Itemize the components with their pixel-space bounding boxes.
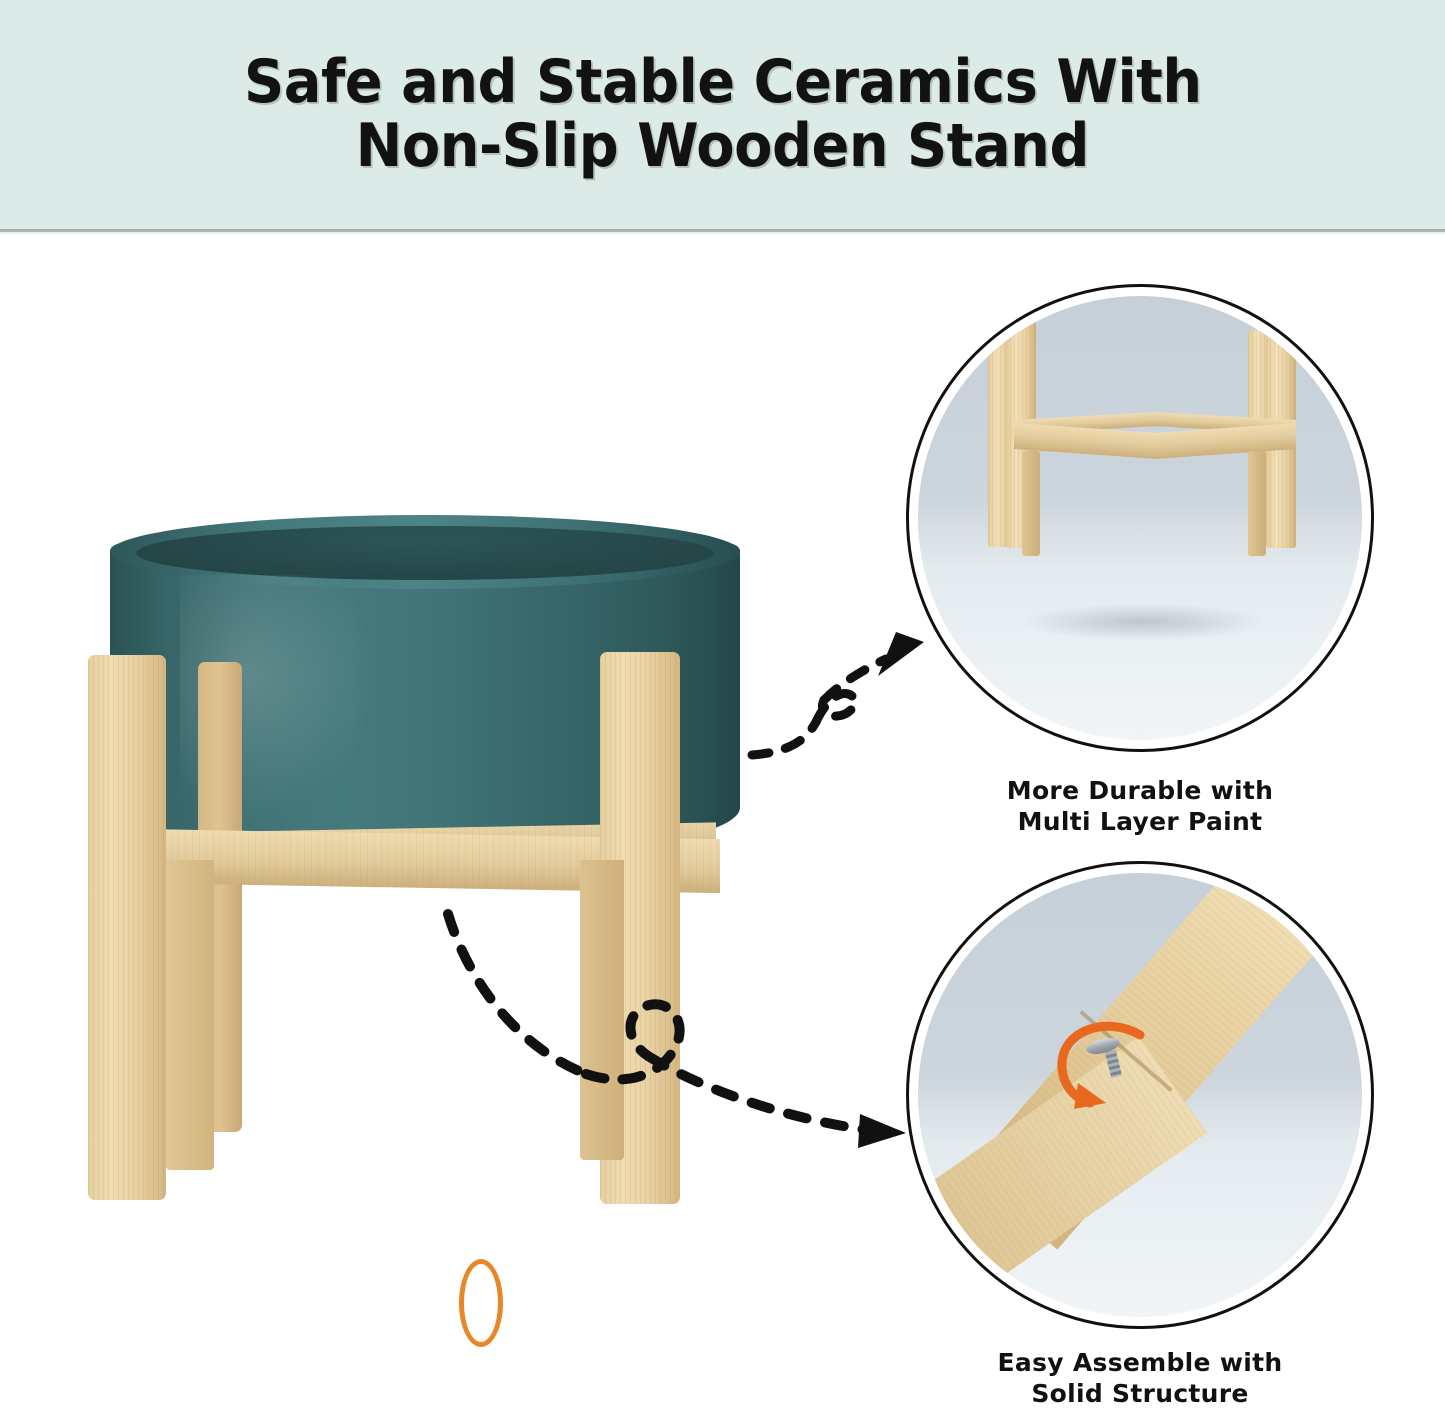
- stand-leg-front-left: [88, 655, 166, 1200]
- stand-foot-right-inner: [580, 860, 624, 1160]
- caption-more-durable: More Durable with Multi Layer Paint: [906, 776, 1374, 837]
- header-banner: Safe and Stable Ceramics With Non-Slip W…: [0, 0, 1445, 232]
- product-infographic: Safe and Stable Ceramics With Non-Slip W…: [0, 0, 1445, 1410]
- headline-line-2: Non-Slip Wooden Stand: [356, 115, 1089, 179]
- bamboo-stand: [40, 430, 840, 1260]
- headline-line-1: Safe and Stable Ceramics With: [244, 51, 1202, 115]
- rotation-arrow-icon: [1044, 1013, 1184, 1123]
- joint-highlight-ellipse: [459, 1259, 503, 1347]
- inset-screw-photo: [918, 873, 1362, 1317]
- inset-stand-detail: [906, 284, 1374, 752]
- stand-foot-left-inner: [166, 860, 214, 1170]
- mini-foot-right-inner: [1248, 451, 1266, 556]
- caption-line-2: Multi Layer Paint: [906, 807, 1374, 838]
- caption-line-1: Easy Assemble with: [906, 1348, 1374, 1379]
- caption-line-1: More Durable with: [906, 776, 1374, 807]
- inset-screw-detail: [906, 861, 1374, 1329]
- hero-product-photo: [40, 430, 840, 1260]
- mini-foot-left-inner: [1022, 451, 1040, 556]
- caption-line-2: Solid Structure: [906, 1379, 1374, 1410]
- caption-easy-assemble: Easy Assemble with Solid Structure: [906, 1348, 1374, 1409]
- inset-floor-shadow: [1018, 596, 1268, 648]
- inset-stand-photo: [918, 296, 1362, 740]
